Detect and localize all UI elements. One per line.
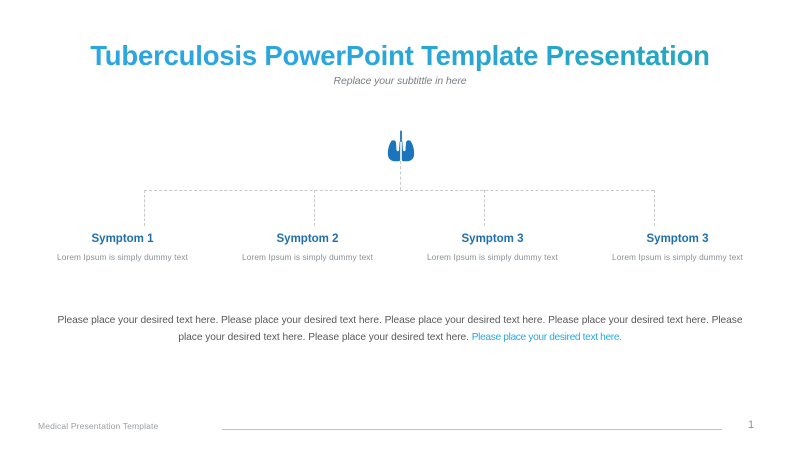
connector-drop-2 — [314, 190, 315, 226]
body-paragraph-plain: Please place your desired text here. Ple… — [58, 315, 743, 343]
symptom-column: Symptom 3 Lorem Ipsum is simply dummy te… — [400, 233, 585, 262]
symptom-title: Symptom 2 — [219, 233, 396, 245]
symptom-description: Lorem Ipsum is simply dummy text — [34, 252, 211, 262]
symptom-title: Symptom 3 — [404, 233, 581, 245]
slide-canvas: Tuberculosis PowerPoint Template Present… — [0, 0, 800, 450]
lungs-icon — [386, 130, 416, 163]
symptom-title: Symptom 3 — [589, 233, 766, 245]
footer-label: Medical Presentation Template — [38, 421, 158, 431]
symptom-columns: Symptom 1 Lorem Ipsum is simply dummy te… — [30, 233, 770, 262]
connector-drop-4 — [654, 190, 655, 226]
symptom-column: Symptom 3 Lorem Ipsum is simply dummy te… — [585, 233, 770, 262]
footer-divider — [222, 429, 722, 430]
connector-horizontal-bar — [144, 190, 654, 191]
symptom-description: Lorem Ipsum is simply dummy text — [404, 252, 581, 262]
symptom-description: Lorem Ipsum is simply dummy text — [589, 252, 766, 262]
page-subtitle: Replace your subtittle in here — [0, 75, 800, 87]
connector-stem — [400, 161, 401, 190]
symptom-column: Symptom 2 Lorem Ipsum is simply dummy te… — [215, 233, 400, 262]
symptom-column: Symptom 1 Lorem Ipsum is simply dummy te… — [30, 233, 215, 262]
symptom-title: Symptom 1 — [34, 233, 211, 245]
symptom-description: Lorem Ipsum is simply dummy text — [219, 252, 396, 262]
page-title: Tuberculosis PowerPoint Template Present… — [0, 40, 800, 72]
page-number: 1 — [748, 419, 778, 431]
body-paragraph-accent: Please place your desired text here. — [472, 332, 622, 343]
connector-drop-1 — [144, 190, 145, 226]
body-paragraph: Please place your desired text here. Ple… — [48, 312, 752, 346]
connector-drop-3 — [484, 190, 485, 226]
